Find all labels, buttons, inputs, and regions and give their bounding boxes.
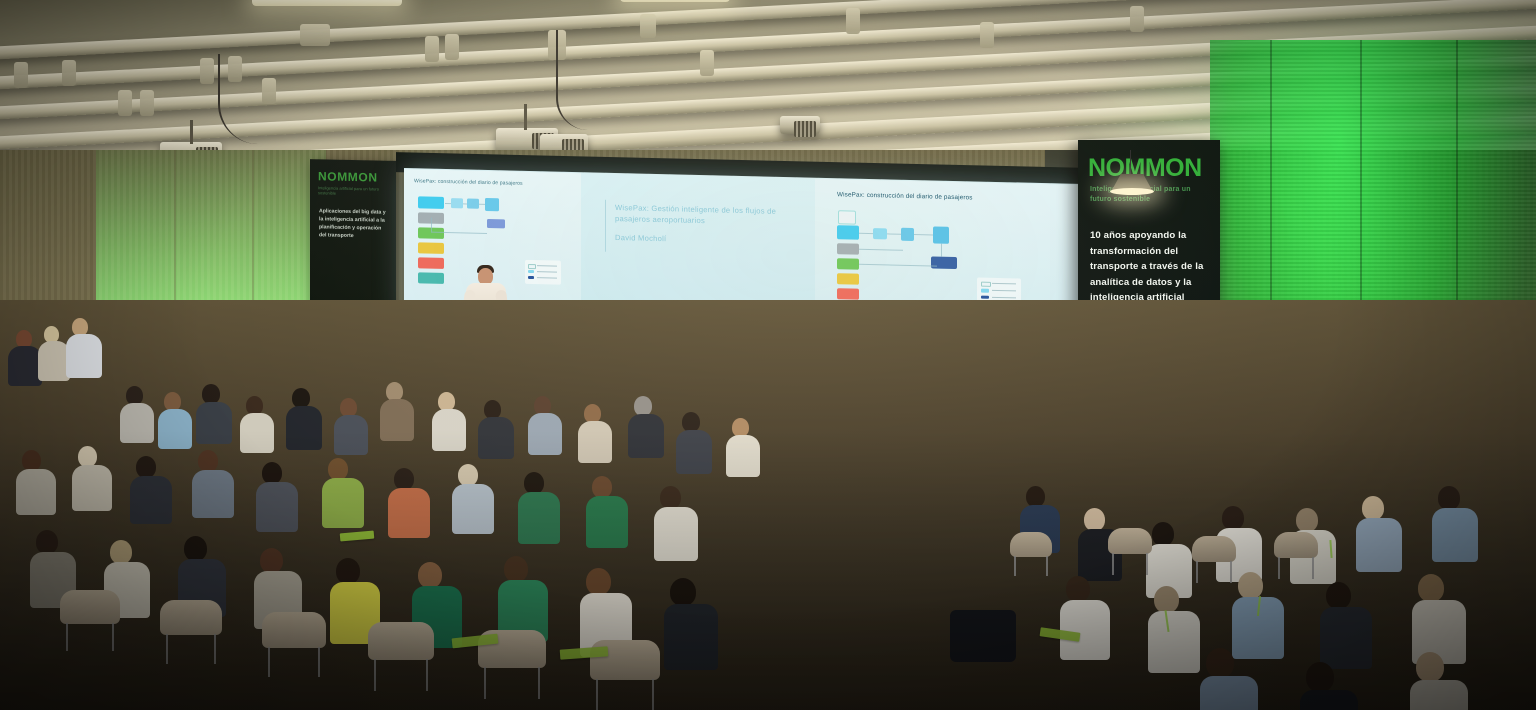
slide-chip-vuelos [837,258,859,270]
ceiling-rib [846,8,860,34]
pendant-lamp-cord [1130,150,1131,176]
ceiling-rib [640,14,656,38]
banner-right-tagline: Inteligencia artificial para un futuro s… [1090,185,1212,205]
projector-mount [524,104,527,130]
slide-process-node [451,198,463,208]
projector-icon [780,116,820,134]
projector-mount [190,120,193,144]
slide-result-node [931,256,957,269]
slide-chip-telefonia [837,225,859,240]
slide-right-title: WisePax: construcción del diario de pasa… [837,191,973,201]
slide-process-node [901,228,914,241]
ceiling-rib [425,36,439,62]
conference-room-photo: NOMMON Inteligencia artificial para un f… [0,0,1536,710]
slide-left-legend [525,260,561,285]
banner-right-body: 10 años apoyando la transformación del t… [1090,228,1214,306]
slide-chip-encuestas [418,257,444,269]
pendant-lamp-glow [1110,188,1154,195]
slide-chip-tarjetas [418,272,444,284]
slide-process-node [467,198,479,208]
ceiling-rib [262,78,276,104]
ceiling-rib [445,34,459,60]
slide-chip-handling [837,273,859,285]
banner-left-body: Aplicaciones del big data y la inteligen… [319,207,387,240]
title-accent-bar [605,200,606,252]
backpack [950,610,1016,662]
ceiling-rib [700,50,714,76]
slide-process-node [933,226,949,243]
slide-chip-handling [418,242,444,254]
ceiling-rib [140,90,154,116]
slide-process-node [873,228,887,239]
ceiling-rib [300,24,330,46]
ceiling-light [620,0,730,2]
audience-area [0,300,1536,710]
slide-chip-telefonia [418,196,444,209]
slide-center-speaker: David Mocholí [615,232,795,247]
ceiling-rib [200,58,214,84]
slide-center-title: WisePax: Gestión inteligente de los fluj… [615,202,795,228]
ceiling-cable [556,30,588,130]
slide-chip-encuestas [837,288,859,300]
slide-source-node [838,210,856,224]
ceiling-rib [14,62,28,88]
ceiling-rib [118,90,132,116]
slide-left-title: WisePax: construcción del diario de pasa… [414,178,523,187]
slide-chip-aforo [837,243,859,255]
banner-left-logo: NOMMON [318,169,378,184]
ceiling-light [252,0,402,6]
slide-result-node [487,219,505,228]
ceiling-rib [980,22,994,48]
banner-left-tagline: Inteligencia artificial para un futuro s… [318,185,390,197]
ceiling-rib [62,60,76,86]
slide-process-node [485,198,499,211]
